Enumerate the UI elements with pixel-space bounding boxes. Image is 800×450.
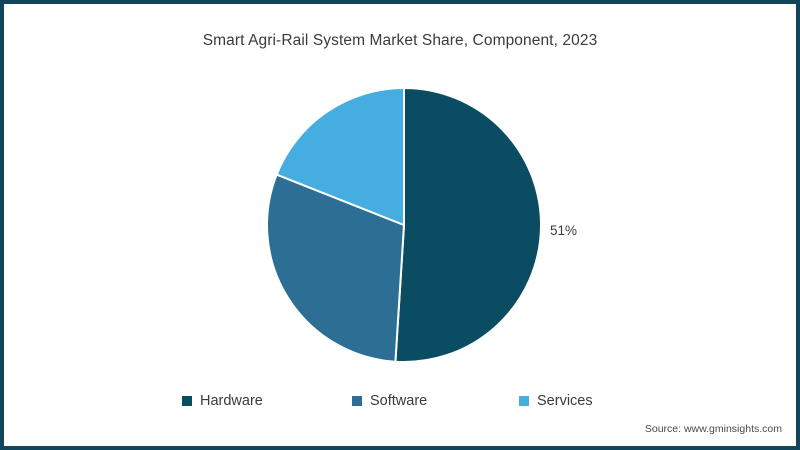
legend-swatch-hardware	[182, 396, 192, 406]
pie-slice-hardware[interactable]	[395, 88, 541, 362]
legend-label-software: Software	[370, 394, 427, 409]
legend-item-services[interactable]: Services	[519, 390, 593, 412]
chart-canvas: Smart Agri-Rail System Market Share, Com…	[4, 4, 796, 446]
pie-chart	[267, 88, 541, 362]
chart-legend: Hardware Software Services	[4, 390, 796, 412]
legend-swatch-software	[352, 396, 362, 406]
legend-label-hardware: Hardware	[200, 394, 263, 409]
legend-swatch-services	[519, 396, 529, 406]
legend-label-services: Services	[537, 394, 593, 409]
chart-title: Smart Agri-Rail System Market Share, Com…	[4, 32, 796, 50]
pie-chart-svg	[267, 88, 541, 362]
chart-screenshot: Smart Agri-Rail System Market Share, Com…	[0, 0, 800, 450]
legend-item-software[interactable]: Software	[352, 390, 427, 412]
pie-slice-label-hardware: 51%	[550, 223, 577, 238]
pie-slice-group	[267, 88, 541, 362]
source-attribution: Source: www.gminsights.com	[645, 423, 782, 435]
legend-item-hardware[interactable]: Hardware	[182, 390, 263, 412]
